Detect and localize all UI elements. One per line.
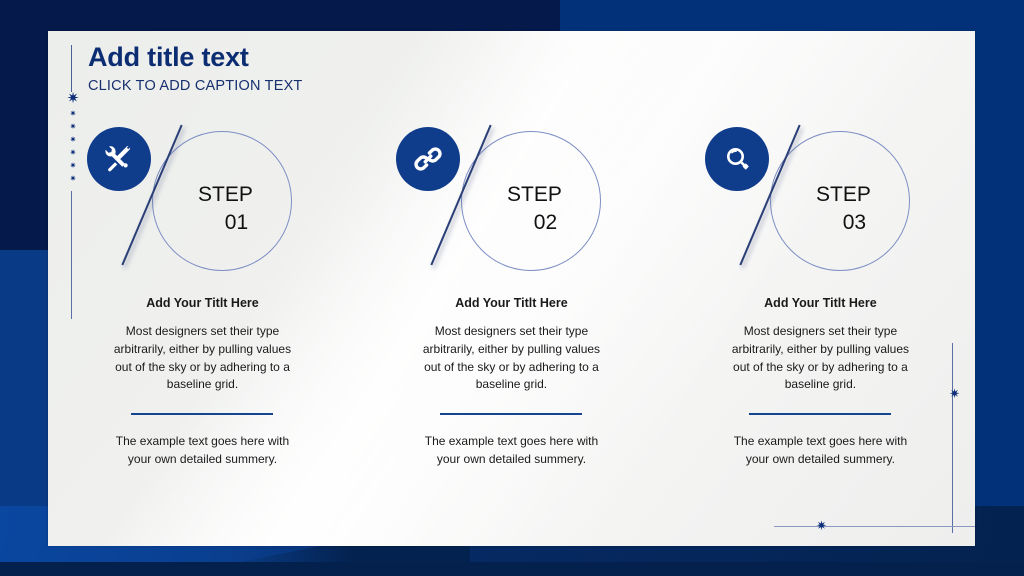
step-word: STEP [198,183,253,206]
star-icon: ✷ [63,91,83,106]
step-body-text: Most designers set their type arbitraril… [416,323,606,394]
step-word: STEP [507,183,562,206]
step-footer-text: The example text goes here with your own… [102,433,302,469]
step-graphic: STEP 01 [87,119,317,284]
step-label: STEP 02 [474,181,594,238]
step-column: STEP 01 Add Your Titlt Here Most designe… [48,119,357,469]
step-body-text: Most designers set their type arbitraril… [725,323,915,394]
step-label: STEP 01 [165,181,285,238]
tools-wrench-screwdriver-icon[interactable] [87,127,151,191]
star-icon: ✷ [949,387,960,400]
step-graphic: STEP 02 [396,119,626,284]
star-icon: ✷ [816,519,827,532]
title-accent-rule [71,45,72,92]
bottom-accent-rule [774,526,975,527]
page-caption: CLICK TO ADD CAPTION TEXT [88,78,303,94]
star-icon: ✷ [63,110,83,118]
step-number: 01 [165,209,285,237]
step-label: STEP 03 [783,181,903,238]
slide-content-panel: Add title text CLICK TO ADD CAPTION TEXT… [48,31,975,546]
step-title: Add Your Titlt Here [455,296,568,310]
step-title: Add Your Titlt Here [764,296,877,310]
step-footer-text: The example text goes here with your own… [720,433,920,469]
step-divider [131,413,273,415]
step-title: Add Your Titlt Here [146,296,259,310]
step-column: STEP 03 Add Your Titlt Here Most designe… [666,119,975,469]
page-title: Add title text [88,43,303,73]
steps-row: STEP 01 Add Your Titlt Here Most designe… [48,119,975,469]
step-body-text: Most designers set their type arbitraril… [107,323,297,394]
step-word: STEP [816,183,871,206]
background-bottom-strip [0,562,1024,576]
step-column: STEP 02 Add Your Titlt Here Most designe… [357,119,666,469]
step-graphic: STEP 03 [705,119,935,284]
step-footer-text: The example text goes here with your own… [411,433,611,469]
slide-header: Add title text CLICK TO ADD CAPTION TEXT [88,43,303,94]
step-divider [749,413,891,415]
step-number: 03 [783,209,903,237]
slide-canvas: Add title text CLICK TO ADD CAPTION TEXT… [0,0,1024,576]
right-accent-rule [952,343,953,533]
chain-link-icon[interactable] [396,127,460,191]
step-number: 02 [474,209,594,237]
magnifying-glass-icon[interactable] [705,127,769,191]
step-divider [440,413,582,415]
